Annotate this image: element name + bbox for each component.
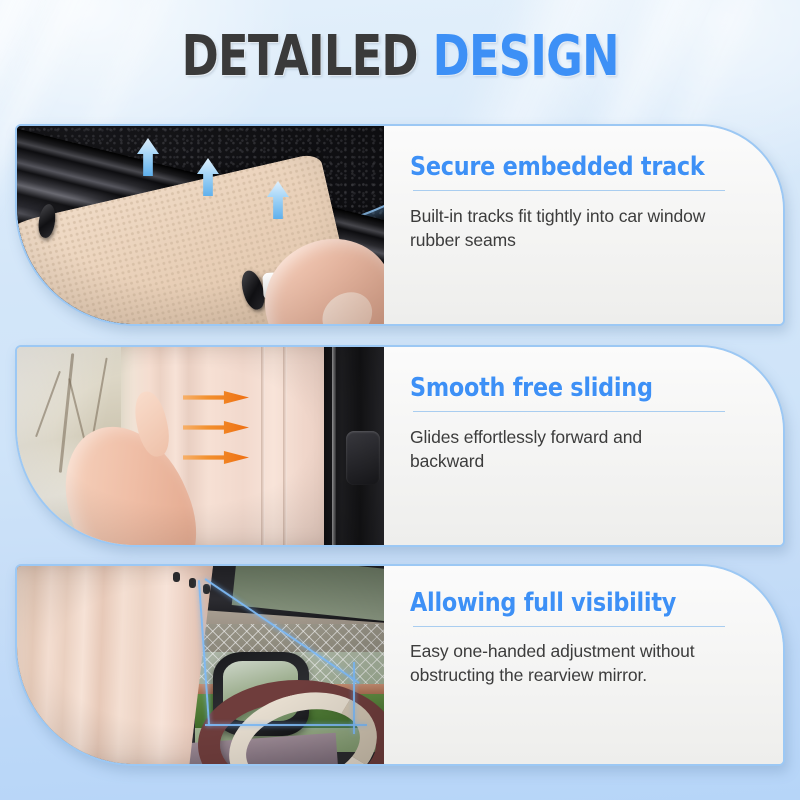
feature-card-secure-embedded-track: Secure embedded track Built-in tracks fi…	[15, 124, 785, 326]
pink-curtain	[17, 566, 213, 764]
card-body-text: Easy one-handed adjustment without obstr…	[410, 640, 710, 687]
heading-divider	[413, 626, 725, 627]
infographic-page: DETAILED DESIGN	[0, 0, 800, 800]
visibility-highlight-line	[205, 724, 367, 726]
heading-divider	[413, 411, 725, 412]
card-body-text: Glides effortlessly forward and backward	[410, 426, 710, 473]
full-visibility-photo	[17, 566, 384, 764]
card-heading: Smooth free sliding	[410, 375, 705, 402]
feature-card-allowing-full-visibility: Allowing full visibility Easy one-handed…	[15, 564, 785, 766]
card-text-column: Secure embedded track Built-in tracks fi…	[384, 126, 783, 324]
card-text-column: Allowing full visibility Easy one-handed…	[384, 566, 783, 764]
card-heading: Allowing full visibility	[410, 590, 705, 617]
page-title-dark-word: DETAILED	[181, 24, 417, 89]
embedded-track-photo	[17, 126, 384, 324]
page-title: DETAILED DESIGN	[0, 29, 800, 85]
heading-divider	[413, 190, 725, 191]
fingernail	[313, 283, 381, 324]
curtain-hook	[203, 584, 210, 594]
curtain-fold	[283, 347, 287, 545]
window-trim-line	[332, 347, 336, 545]
door-button	[346, 431, 380, 485]
curtain-hook	[173, 572, 180, 582]
card-heading: Secure embedded track	[410, 154, 705, 181]
smooth-sliding-photo	[17, 347, 384, 545]
page-title-blue-word: DESIGN	[432, 24, 618, 89]
curtain-hook	[189, 578, 196, 588]
card-text-column: Smooth free sliding Glides effortlessly …	[384, 347, 783, 545]
tree-branch	[35, 371, 61, 437]
curtain-fold	[261, 347, 265, 545]
feature-card-smooth-free-sliding: Smooth free sliding Glides effortlessly …	[15, 345, 785, 547]
card-body-text: Built-in tracks fit tightly into car win…	[410, 205, 710, 252]
